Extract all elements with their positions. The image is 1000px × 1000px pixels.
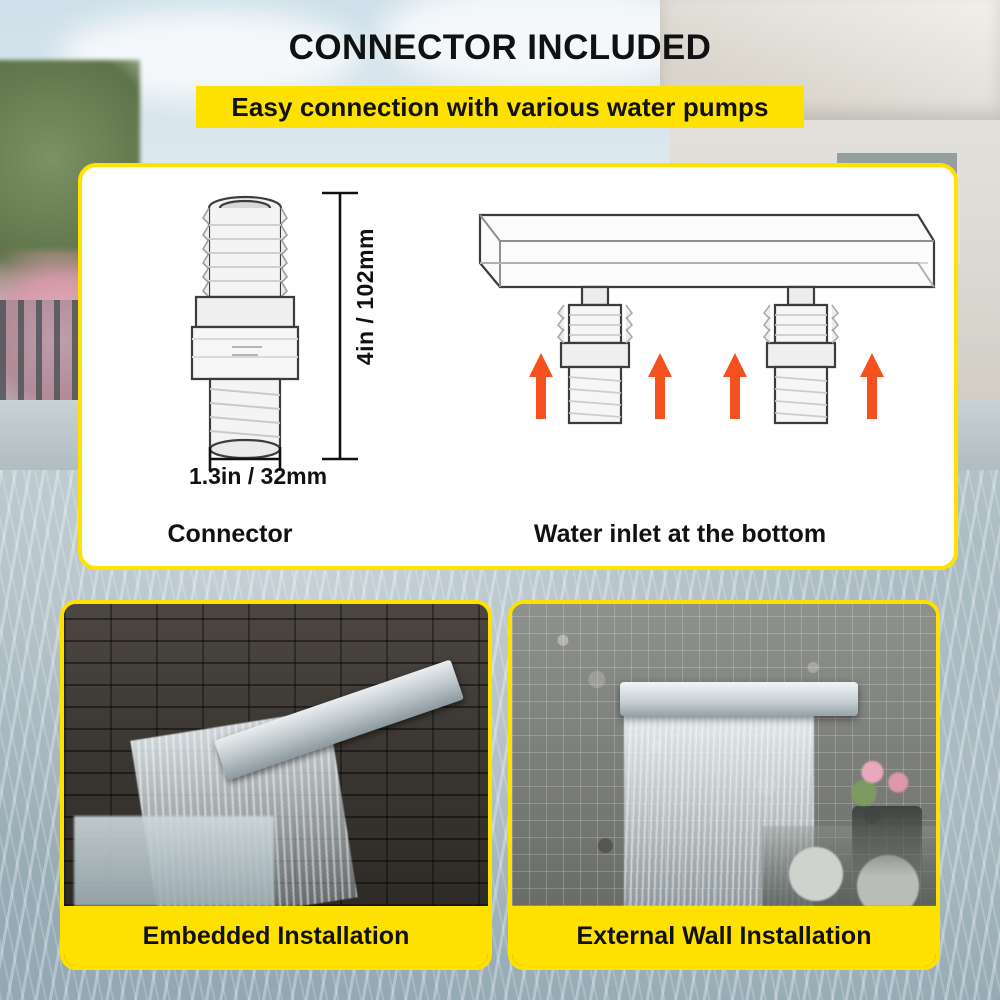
pool-surface xyxy=(74,816,274,906)
connector-height-dimension: 4in / 102mm xyxy=(352,228,379,365)
connector-assembly-left xyxy=(558,305,632,423)
card-label-embedded: Embedded Installation xyxy=(64,906,488,966)
connector-width-dimension: 1.3in / 32mm xyxy=(138,463,378,490)
panel-diagrams xyxy=(82,167,954,566)
connector-assembly-right xyxy=(764,305,838,423)
inlet-caption: Water inlet at the bottom xyxy=(430,520,930,549)
card-external-wall-installation: External Wall Installation xyxy=(508,600,940,970)
subheadline-banner: Easy connection with various water pumps xyxy=(196,86,804,128)
spillway-blade xyxy=(620,682,858,716)
planter xyxy=(852,806,922,876)
spillway-drawing xyxy=(480,215,934,423)
card-embedded-installation: Embedded Installation xyxy=(60,600,492,970)
external-wall-installation-photo xyxy=(512,604,936,906)
embedded-installation-photo xyxy=(64,604,488,906)
connector-drawing xyxy=(192,197,298,458)
flowers xyxy=(838,744,924,814)
diagram-panel xyxy=(78,163,958,570)
card-label-external: External Wall Installation xyxy=(512,906,936,966)
connector-caption: Connector xyxy=(80,520,380,549)
subheadline-text: Easy connection with various water pumps xyxy=(231,92,768,123)
headline: CONNECTOR INCLUDED xyxy=(0,28,1000,68)
